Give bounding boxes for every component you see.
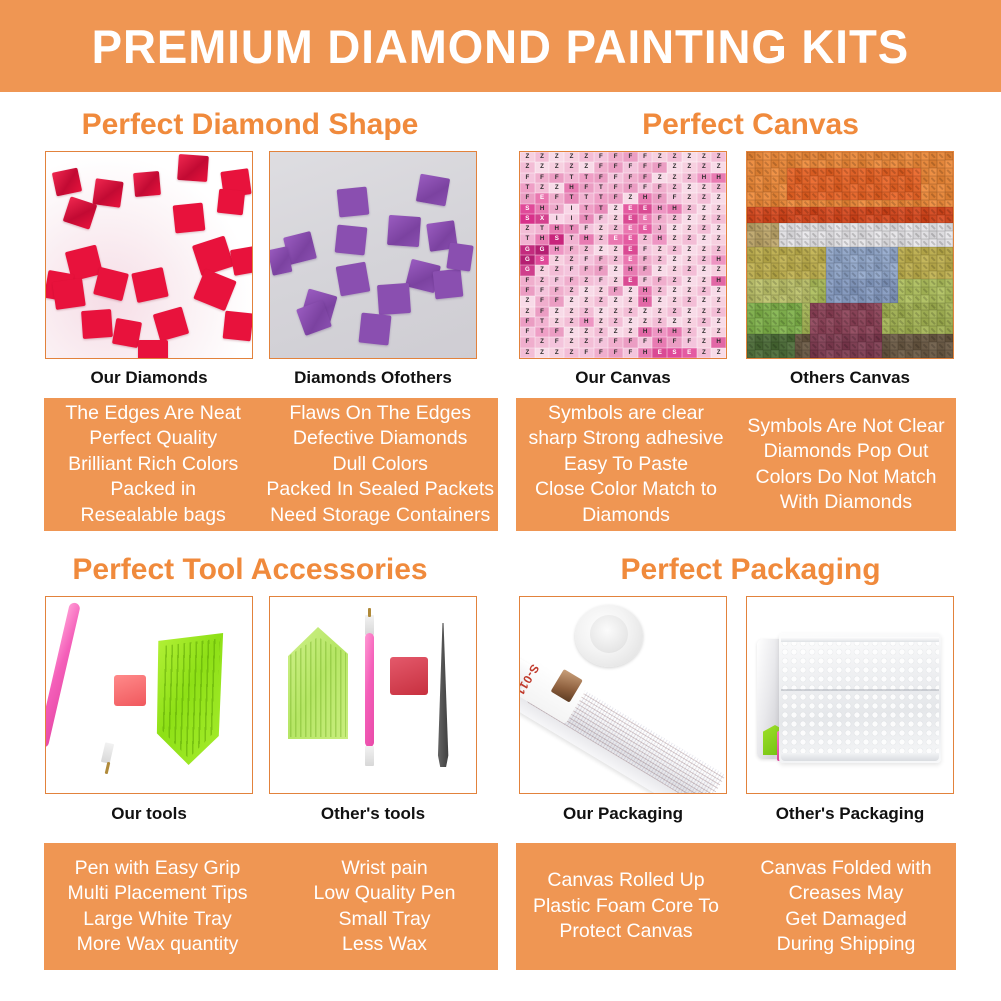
canvas-symbol-cell: Z: [667, 173, 682, 183]
canvas-color-cell: [810, 184, 818, 192]
canvas-color-cell: [795, 303, 803, 311]
canvas-color-cell: [795, 152, 803, 160]
canvas-symbol-cell: Z: [549, 265, 564, 275]
canvas-color-cell: [842, 168, 850, 176]
canvas-symbol-cell: I: [564, 204, 579, 214]
canvas-color-cell: [818, 342, 826, 350]
canvas-symbol-cell: Z: [652, 265, 667, 275]
canvas-color-cell: [802, 231, 810, 239]
canvas-color-cell: [779, 350, 787, 358]
canvas-color-cell: [818, 303, 826, 311]
wax-square: [114, 675, 146, 706]
infographic-page: PREMIUM DIAMOND PAINTING KITS Perfect Di…: [0, 0, 1001, 1001]
canvas-color-cell: [913, 318, 921, 326]
canvas-color-cell: [905, 200, 913, 208]
canvas-color-cell: [763, 200, 771, 208]
canvas-color-cell: [929, 184, 937, 192]
canvas-color-cell: [921, 303, 929, 311]
canvas-color-cell: [905, 192, 913, 200]
canvas-color-cell: [882, 318, 890, 326]
canvas-color-cell: [763, 184, 771, 192]
canvas-color-cell: [874, 176, 882, 184]
canvas-symbol-cell: Z: [697, 255, 712, 265]
canvas-color-cell: [818, 192, 826, 200]
canvas-color-cell: [850, 350, 858, 358]
canvas-color-cell: [747, 160, 755, 168]
canvas-symbol-cell: F: [594, 265, 609, 275]
canvas-color-cell: [842, 318, 850, 326]
canvas-color-cell: [779, 239, 787, 247]
canvas-color-cell: [787, 192, 795, 200]
canvas-color-cell: [929, 326, 937, 334]
canvas-color-cell: [898, 200, 906, 208]
color-grid: [747, 152, 953, 358]
canvas-color-cell: [755, 295, 763, 303]
canvas-symbol-cell: Z: [608, 265, 623, 275]
tube-cap-inner: [590, 615, 628, 653]
canvas-color-cell: [874, 334, 882, 342]
canvas-symbol-cell: S: [520, 214, 535, 224]
canvas-color-cell: [874, 247, 882, 255]
panel-diamond-shape: The Edges Are Neat Perfect Quality Brill…: [44, 398, 498, 531]
canvas-color-cell: [802, 207, 810, 215]
canvas-color-cell: [787, 263, 795, 271]
canvas-color-cell: [858, 342, 866, 350]
canvas-color-cell: [905, 318, 913, 326]
canvas-color-cell: [921, 318, 929, 326]
canvas-color-cell: [858, 271, 866, 279]
canvas-color-cell: [945, 176, 953, 184]
canvas-color-cell: [913, 168, 921, 176]
canvas-color-cell: [826, 215, 834, 223]
canvas-symbol-cell: Z: [682, 327, 697, 337]
canvas-symbol-cell: S: [520, 204, 535, 214]
canvas-color-cell: [890, 318, 898, 326]
canvas-color-cell: [890, 200, 898, 208]
canvas-color-cell: [882, 192, 890, 200]
canvas-color-cell: [755, 279, 763, 287]
panel-line: More Wax quantity: [77, 932, 239, 958]
purple-diamond: [416, 174, 450, 207]
canvas-color-cell: [913, 334, 921, 342]
canvas-color-cell: [898, 247, 906, 255]
panel-column-our-diamonds: The Edges Are Neat Perfect Quality Brill…: [44, 398, 262, 531]
purple-diamond: [446, 242, 473, 271]
canvas-color-cell: [779, 200, 787, 208]
caption-our-canvas: Our Canvas: [519, 368, 727, 388]
canvas-color-cell: [866, 184, 874, 192]
canvas-color-cell: [921, 263, 929, 271]
canvas-color-cell: [755, 334, 763, 342]
canvas-color-cell: [818, 255, 826, 263]
canvas-symbol-cell: H: [667, 204, 682, 214]
canvas-color-cell: [874, 318, 882, 326]
canvas-color-cell: [905, 334, 913, 342]
canvas-color-cell: [882, 255, 890, 263]
canvas-color-cell: [795, 215, 803, 223]
canvas-color-cell: [898, 303, 906, 311]
canvas-color-cell: [890, 239, 898, 247]
canvas-color-cell: [850, 152, 858, 160]
canvas-color-cell: [905, 271, 913, 279]
canvas-color-cell: [826, 310, 834, 318]
canvas-color-cell: [858, 152, 866, 160]
canvas-color-cell: [810, 247, 818, 255]
canvas-symbol-cell: F: [638, 183, 653, 193]
canvas-color-cell: [866, 310, 874, 318]
canvas-symbol-cell: J: [652, 224, 667, 234]
canvas-color-cell: [810, 263, 818, 271]
panel-line: Less Wax: [342, 932, 427, 958]
canvas-color-cell: [787, 303, 795, 311]
canvas-color-cell: [898, 176, 906, 184]
panel-line: Perfect Quality: [89, 426, 217, 452]
section-title-tool-accessories: Perfect Tool Accessories: [0, 553, 500, 587]
canvas-symbol-cell: Z: [564, 307, 579, 317]
canvas-color-cell: [795, 318, 803, 326]
canvas-color-cell: [913, 255, 921, 263]
canvas-color-cell: [771, 287, 779, 295]
canvas-color-cell: [826, 239, 834, 247]
canvas-color-cell: [921, 342, 929, 350]
red-diamond: [173, 203, 206, 234]
canvas-color-cell: [905, 303, 913, 311]
canvas-symbol-cell: S: [667, 348, 682, 358]
canvas-symbol-cell: Z: [549, 307, 564, 317]
canvas-symbol-cell: Z: [667, 224, 682, 234]
canvas-color-cell: [882, 310, 890, 318]
canvas-symbol-cell: Z: [608, 224, 623, 234]
canvas-color-cell: [795, 310, 803, 318]
canvas-color-cell: [858, 263, 866, 271]
canvas-color-cell: [755, 287, 763, 295]
canvas-symbol-cell: H: [711, 276, 726, 286]
canvas-color-cell: [755, 239, 763, 247]
canvas-color-cell: [866, 152, 874, 160]
canvas-color-cell: [795, 271, 803, 279]
canvas-color-cell: [929, 247, 937, 255]
canvas-color-cell: [850, 255, 858, 263]
canvas-color-cell: [913, 303, 921, 311]
canvas-color-cell: [842, 152, 850, 160]
canvas-symbol-cell: F: [594, 337, 609, 347]
red-diamonds-photo: [46, 152, 252, 358]
canvas-color-cell: [858, 318, 866, 326]
canvas-color-cell: [945, 295, 953, 303]
canvas-color-cell: [779, 223, 787, 231]
canvas-symbol-cell: Z: [667, 234, 682, 244]
canvas-color-cell: [898, 223, 906, 231]
canvas-symbol-cell: F: [652, 193, 667, 203]
canvas-symbol-cell: Z: [711, 204, 726, 214]
canvas-color-cell: [810, 255, 818, 263]
canvas-color-cell: [802, 168, 810, 176]
canvas-symbol-cell: Z: [711, 162, 726, 172]
canvas-color-cell: [937, 271, 945, 279]
canvas-color-cell: [802, 342, 810, 350]
canvas-symbol-cell: T: [579, 193, 594, 203]
canvas-color-cell: [810, 168, 818, 176]
page-title: PREMIUM DIAMOND PAINTING KITS: [92, 19, 909, 74]
canvas-color-cell: [818, 287, 826, 295]
canvas-color-cell: [802, 192, 810, 200]
canvas-color-cell: [905, 176, 913, 184]
canvas-symbol-cell: Z: [594, 286, 609, 296]
canvas-symbol-cell: G: [520, 265, 535, 275]
canvas-color-cell: [858, 168, 866, 176]
canvas-symbol-cell: Z: [682, 183, 697, 193]
canvas-symbol-cell: H: [638, 327, 653, 337]
canvas-symbol-cell: E: [638, 204, 653, 214]
panel-line: Get Damaged: [785, 907, 906, 933]
canvas-color-cell: [779, 342, 787, 350]
canvas-color-cell: [747, 184, 755, 192]
red-diamond: [217, 189, 245, 216]
canvas-symbol-cell: F: [520, 317, 535, 327]
our-tools-photo: [46, 597, 252, 793]
canvas-color-cell: [834, 318, 842, 326]
canvas-symbol-cell: F: [608, 173, 623, 183]
canvas-color-cell: [874, 350, 882, 358]
canvas-color-cell: [874, 231, 882, 239]
canvas-symbol-cell: Z: [652, 307, 667, 317]
canvas-color-cell: [850, 318, 858, 326]
canvas-symbol-cell: Z: [682, 152, 697, 162]
canvas-symbol-cell: T: [564, 234, 579, 244]
canvas-color-cell: [842, 303, 850, 311]
canvas-color-cell: [913, 247, 921, 255]
canvas-symbol-cell: F: [594, 255, 609, 265]
panel-line: Multi Placement Tips: [68, 881, 248, 907]
canvas-symbol-cell: F: [579, 183, 594, 193]
canvas-color-cell: [763, 215, 771, 223]
canvas-symbol-cell: T: [564, 224, 579, 234]
canvas-color-cell: [913, 223, 921, 231]
canvas-color-cell: [898, 231, 906, 239]
canvas-symbol-cell: Z: [697, 265, 712, 275]
canvas-color-cell: [787, 342, 795, 350]
canvas-color-cell: [802, 279, 810, 287]
canvas-color-cell: [921, 200, 929, 208]
pen-cap-bottom: [365, 746, 374, 766]
canvas-color-cell: [945, 342, 953, 350]
canvas-color-cell: [929, 215, 937, 223]
canvas-color-cell: [882, 152, 890, 160]
canvas-color-cell: [810, 200, 818, 208]
canvas-color-cell: [921, 247, 929, 255]
page-header: PREMIUM DIAMOND PAINTING KITS: [0, 0, 1001, 92]
canvas-color-cell: [874, 184, 882, 192]
canvas-color-cell: [898, 263, 906, 271]
canvas-color-cell: [850, 279, 858, 287]
canvas-color-cell: [795, 168, 803, 176]
canvas-symbol-cell: F: [638, 337, 653, 347]
pink-symbol-canvas-photo: ZZZZZFFFFZZZZZZZZZZFFFFFZZZZFFFTTFFFFZZZ…: [520, 152, 726, 358]
canvas-color-cell: [771, 271, 779, 279]
canvas-symbol-cell: Z: [579, 337, 594, 347]
canvas-color-cell: [818, 215, 826, 223]
canvas-symbol-cell: Z: [608, 317, 623, 327]
canvas-symbol-cell: F: [652, 183, 667, 193]
canvas-color-cell: [779, 152, 787, 160]
canvas-color-cell: [763, 318, 771, 326]
canvas-color-cell: [913, 279, 921, 287]
canvas-color-cell: [795, 231, 803, 239]
canvas-color-cell: [921, 231, 929, 239]
caption-our-tools: Our tools: [45, 804, 253, 824]
canvas-symbol-cell: Z: [520, 348, 535, 358]
canvas-color-cell: [818, 350, 826, 358]
canvas-symbol-cell: F: [549, 193, 564, 203]
canvas-color-cell: [763, 287, 771, 295]
canvas-symbol-cell: F: [652, 162, 667, 172]
canvas-color-cell: [945, 215, 953, 223]
canvas-symbol-cell: Z: [594, 245, 609, 255]
canvas-color-cell: [866, 160, 874, 168]
canvas-color-cell: [842, 160, 850, 168]
canvas-symbol-cell: F: [549, 296, 564, 306]
canvas-symbol-cell: Z: [520, 152, 535, 162]
canvas-color-cell: [913, 231, 921, 239]
canvas-symbol-cell: H: [623, 265, 638, 275]
canvas-color-cell: [905, 239, 913, 247]
canvas-symbol-cell: F: [608, 337, 623, 347]
canvas-color-cell: [890, 279, 898, 287]
canvas-color-cell: [945, 223, 953, 231]
canvas-color-cell: [882, 271, 890, 279]
canvas-color-cell: [755, 223, 763, 231]
canvas-color-cell: [747, 239, 755, 247]
red-diamond: [230, 246, 252, 276]
canvas-color-cell: [818, 334, 826, 342]
canvas-color-cell: [818, 176, 826, 184]
canvas-symbol-cell: F: [549, 276, 564, 286]
canvas-symbol-cell: Z: [564, 296, 579, 306]
canvas-color-cell: [937, 310, 945, 318]
canvas-symbol-cell: F: [564, 276, 579, 286]
canvas-color-cell: [898, 207, 906, 215]
canvas-symbol-cell: E: [623, 214, 638, 224]
canvas-color-cell: [874, 303, 882, 311]
pen-ferrule-top: [365, 615, 374, 635]
canvas-color-cell: [921, 207, 929, 215]
canvas-color-cell: [945, 350, 953, 358]
canvas-color-cell: [913, 295, 921, 303]
canvas-color-cell: [905, 247, 913, 255]
canvas-color-cell: [905, 207, 913, 215]
canvas-symbol-cell: Z: [652, 317, 667, 327]
canvas-color-cell: [905, 231, 913, 239]
canvas-symbol-cell: Z: [697, 276, 712, 286]
canvas-color-cell: [905, 215, 913, 223]
canvas-color-cell: [802, 295, 810, 303]
canvas-color-cell: [779, 295, 787, 303]
canvas-color-cell: [898, 326, 906, 334]
canvas-color-cell: [787, 334, 795, 342]
canvas-color-cell: [898, 215, 906, 223]
canvas-color-cell: [747, 200, 755, 208]
canvas-color-cell: [937, 247, 945, 255]
photo-our-diamonds: [45, 151, 253, 359]
canvas-color-cell: [802, 247, 810, 255]
canvas-color-cell: [882, 200, 890, 208]
canvas-color-cell: [913, 207, 921, 215]
canvas-color-cell: [810, 334, 818, 342]
canvas-color-cell: [898, 255, 906, 263]
canvas-symbol-cell: Z: [667, 307, 682, 317]
canvas-color-cell: [890, 176, 898, 184]
canvas-color-cell: [850, 223, 858, 231]
canvas-symbol-cell: Z: [594, 317, 609, 327]
canvas-color-cell: [913, 192, 921, 200]
panel-line: Dull Colors: [333, 452, 428, 478]
canvas-symbol-cell: F: [535, 296, 550, 306]
pen-nib: [368, 608, 371, 617]
canvas-color-cell: [747, 192, 755, 200]
canvas-symbol-cell: Z: [711, 327, 726, 337]
bubble-texture: [781, 639, 939, 757]
panel-line: Defective Diamonds: [293, 426, 468, 452]
canvas-symbol-cell: H: [711, 173, 726, 183]
canvas-color-cell: [747, 223, 755, 231]
canvas-symbol-cell: H: [535, 204, 550, 214]
canvas-color-cell: [937, 255, 945, 263]
canvas-color-cell: [810, 231, 818, 239]
canvas-color-cell: [747, 318, 755, 326]
canvas-color-cell: [929, 350, 937, 358]
panel-line: Wrist pain: [341, 856, 427, 882]
canvas-color-cell: [929, 303, 937, 311]
canvas-color-cell: [913, 152, 921, 160]
canvas-color-cell: [937, 184, 945, 192]
canvas-color-cell: [755, 176, 763, 184]
canvas-color-cell: [779, 326, 787, 334]
canvas-color-cell: [945, 192, 953, 200]
canvas-symbol-cell: F: [623, 173, 638, 183]
canvas-color-cell: [787, 318, 795, 326]
caption-our-packaging: Our Packaging: [519, 804, 727, 824]
canvas-symbol-cell: E: [608, 234, 623, 244]
canvas-color-cell: [826, 326, 834, 334]
canvas-color-cell: [842, 215, 850, 223]
canvas-color-cell: [890, 310, 898, 318]
photo-our-packaging: S-011: [519, 596, 727, 794]
red-diamond: [223, 311, 252, 342]
canvas-color-cell: [937, 279, 945, 287]
canvas-color-cell: [898, 350, 906, 358]
canvas-color-cell: [779, 207, 787, 215]
canvas-color-cell: [795, 342, 803, 350]
canvas-color-cell: [763, 350, 771, 358]
canvas-color-cell: [882, 279, 890, 287]
canvas-symbol-cell: J: [549, 204, 564, 214]
canvas-color-cell: [850, 271, 858, 279]
canvas-symbol-cell: Z: [682, 255, 697, 265]
canvas-color-cell: [937, 200, 945, 208]
canvas-color-cell: [826, 334, 834, 342]
canvas-color-cell: [882, 263, 890, 271]
canvas-color-cell: [866, 342, 874, 350]
canvas-color-cell: [890, 184, 898, 192]
canvas-color-cell: [771, 279, 779, 287]
canvas-color-cell: [826, 303, 834, 311]
canvas-color-cell: [905, 160, 913, 168]
canvas-color-cell: [763, 263, 771, 271]
canvas-symbol-cell: T: [594, 183, 609, 193]
canvas-color-cell: [842, 342, 850, 350]
canvas-color-cell: [779, 215, 787, 223]
canvas-symbol-cell: E: [638, 214, 653, 224]
